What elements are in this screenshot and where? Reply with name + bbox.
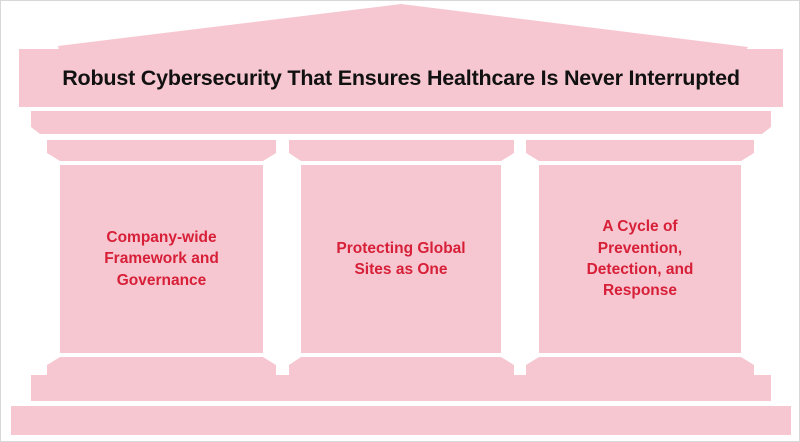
pillar-base-2	[289, 357, 514, 378]
stylobate-platform	[31, 375, 771, 401]
pillar-capital-2	[289, 140, 514, 161]
pillar-capital-1	[47, 140, 276, 161]
pillar-shaft-2	[301, 165, 501, 353]
temple-diagram: Robust Cybersecurity That Ensures Health…	[0, 0, 800, 442]
pillar-base-1	[47, 357, 276, 378]
pediment-roof	[58, 4, 748, 50]
pillar-base-3	[526, 357, 754, 378]
pillar-capital-3	[526, 140, 754, 161]
pillar-shaft-3	[539, 165, 741, 353]
temple-structure-graphic	[1, 1, 800, 442]
pillar-shaft-1	[60, 165, 263, 353]
title-banner-plate	[19, 49, 783, 107]
architrave-beam	[31, 111, 771, 134]
foundation-step	[11, 406, 791, 435]
